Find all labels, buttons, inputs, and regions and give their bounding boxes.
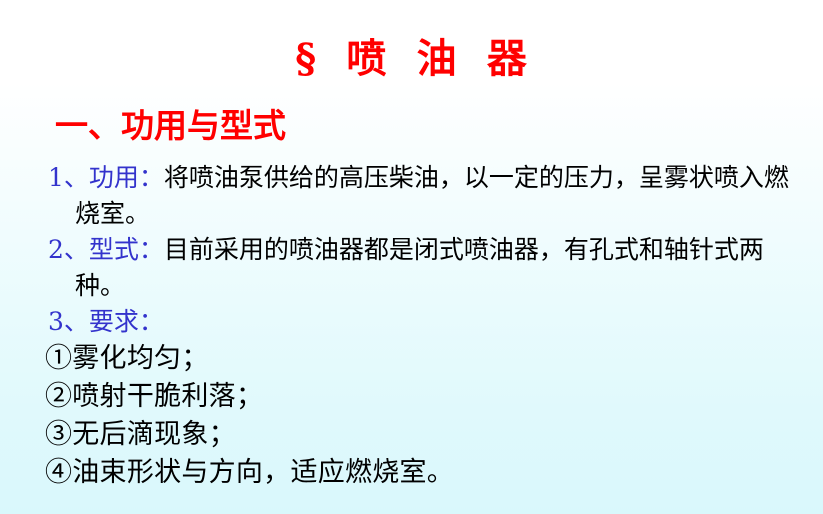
requirement-text: 喷射干脆利落； <box>72 381 263 412</box>
body-content: 1、功用：将喷油泵供给的高压柴油，以一定的压力，呈雾状喷入燃烧室。 2、型式：目… <box>0 160 823 492</box>
requirement-text: 油束形状与方向，适应燃烧室。 <box>72 457 454 488</box>
section-heading: 一、功用与型式 <box>55 106 286 146</box>
requirement-text: 雾化均匀； <box>72 343 208 374</box>
list-item: 2、型式：目前采用的喷油器都是闭式喷油器，有孔式和轴针式两种。 <box>0 232 823 304</box>
requirement-item: ④油束形状与方向，适应燃烧室。 <box>0 454 823 492</box>
list-item-text: 将喷油泵供给的高压柴油，以一定的压力，呈雾状喷入燃烧室。 <box>75 163 789 228</box>
list-item-lead: 2、型式： <box>48 235 164 264</box>
circled-number-icon: ④ <box>45 457 72 488</box>
list-item-text: 目前采用的喷油器都是闭式喷油器，有孔式和轴针式两种。 <box>75 235 764 300</box>
requirement-item: ②喷射干脆利落； <box>0 378 823 416</box>
requirement-text: 无后滴现象； <box>72 419 236 450</box>
list-item: 1、功用：将喷油泵供给的高压柴油，以一定的压力，呈雾状喷入燃烧室。 <box>0 160 823 232</box>
circled-number-icon: ③ <box>45 419 72 450</box>
requirement-item: ③无后滴现象； <box>0 416 823 454</box>
requirement-item: ①雾化均匀； <box>0 340 823 378</box>
list-item: 3、要求： <box>0 304 823 340</box>
page-title: § 喷 油 器 <box>0 36 823 82</box>
list-item-lead: 3、要求： <box>48 307 164 336</box>
list-item-lead: 1、功用： <box>48 163 164 192</box>
slide-canvas: § 喷 油 器 一、功用与型式 1、功用：将喷油泵供给的高压柴油，以一定的压力，… <box>0 0 823 514</box>
circled-number-icon: ① <box>45 343 72 374</box>
circled-number-icon: ② <box>45 381 72 412</box>
